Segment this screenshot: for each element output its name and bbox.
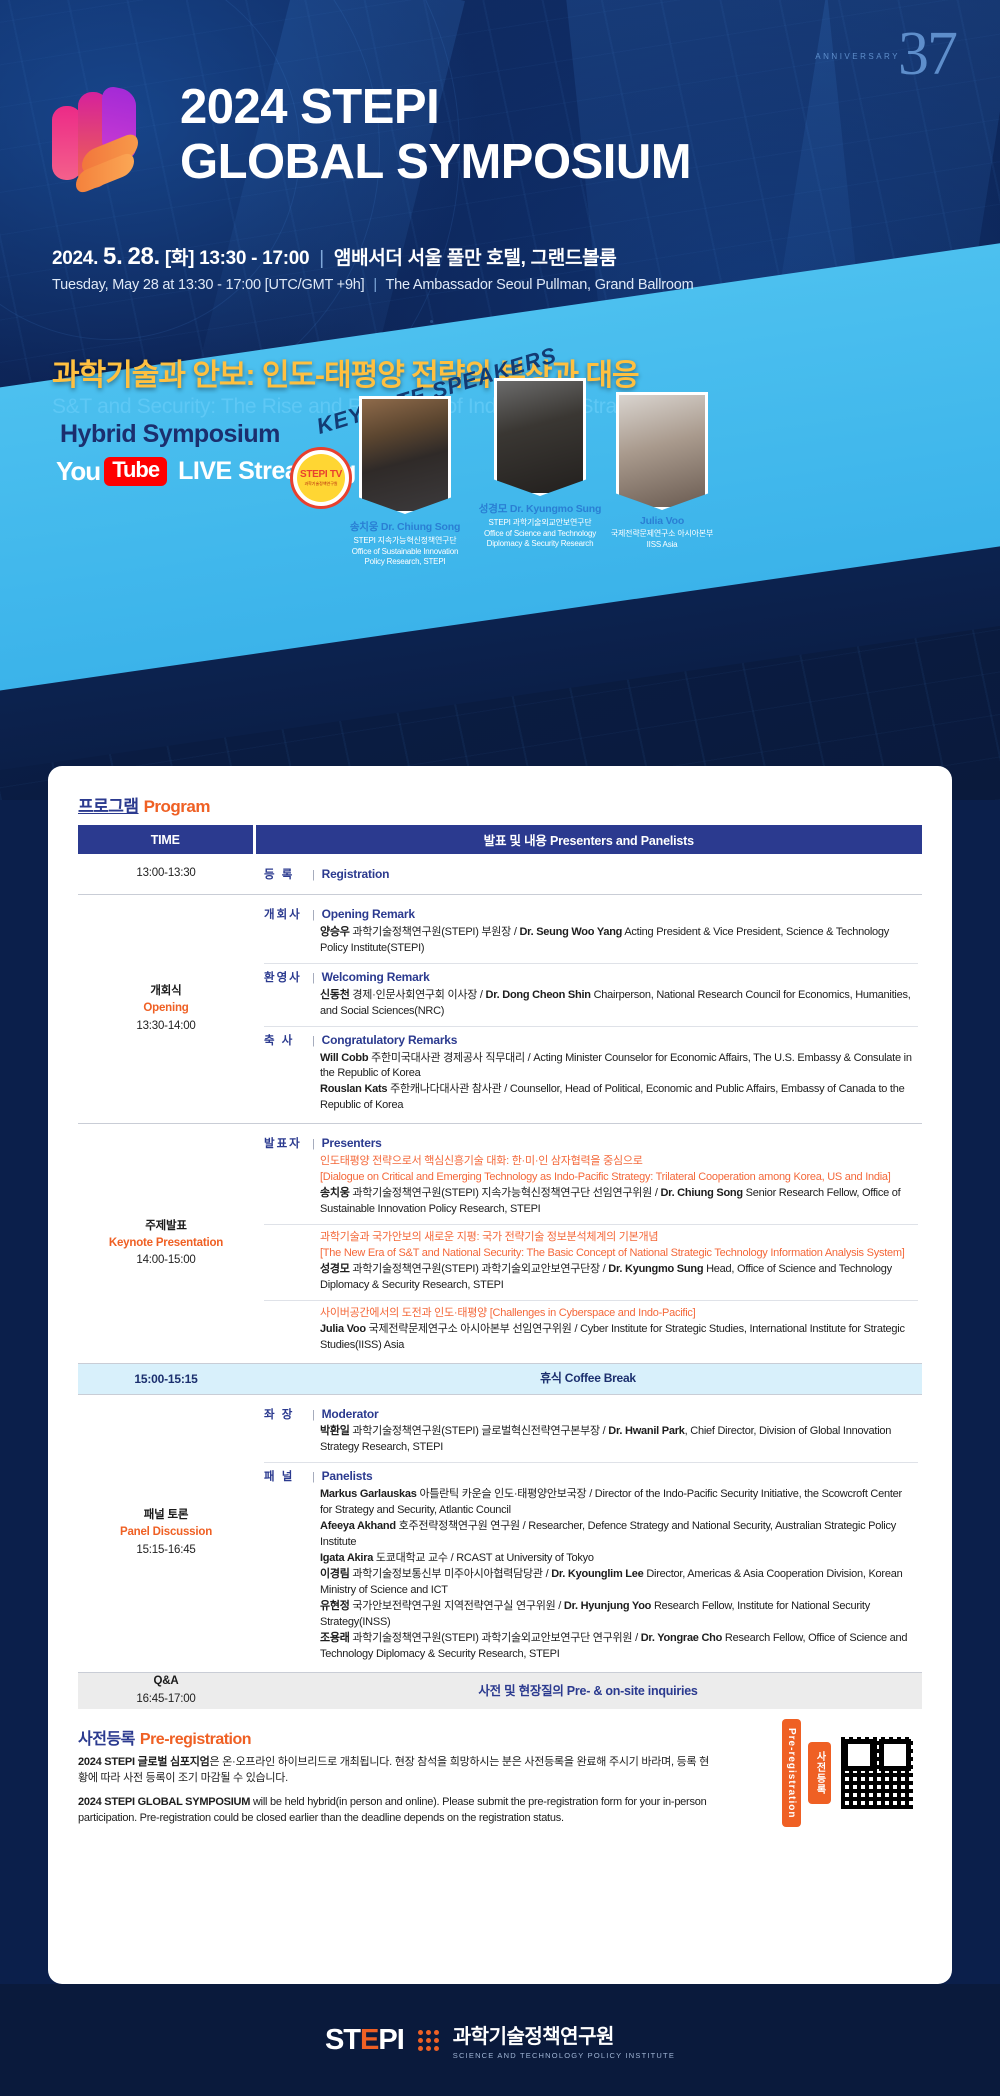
program-block: 과학기술과 국가안보의 새로운 지평: 국가 전략기술 정보분석체계의 기본개념…: [264, 1225, 918, 1301]
coffee-break-label: 휴식 Coffee Break: [254, 1363, 922, 1394]
person-line: 유현정 국가안보전략연구원 지역전략연구실 연구위원 / Dr. Hyunjun…: [264, 1599, 914, 1631]
footer-name-kr: 과학기술정책연구원: [453, 2020, 675, 2049]
date-en: Tuesday, May 28 at 13:30 - 17:00 [UTC/GM…: [52, 277, 365, 293]
row-time-cell: 15:00-15:15: [78, 1363, 254, 1394]
date-year: 2024.: [52, 248, 98, 269]
venue-kr: 앰배서더 서울 풀만 호텔, 그랜드볼룸: [334, 248, 617, 269]
row-content-cell: 좌 장|Moderator박환일 과학기술정책연구원(STEPI) 글로벌혁신전…: [254, 1394, 922, 1672]
program-block: 축 사|Congratulatory RemarksWill Cobb 주한미국…: [264, 1027, 918, 1117]
time-range: 16:45-17:00: [136, 1693, 195, 1705]
date-rest: [화] 13:30 - 17:00: [165, 248, 309, 269]
program-block: 좌 장|Moderator박환일 과학기술정책연구원(STEPI) 글로벌혁신전…: [264, 1401, 918, 1464]
block-header: 개회사|Opening Remark: [264, 906, 914, 924]
speaker-photo-2: [494, 378, 586, 496]
presentation-title-en: [The New Era of S&T and National Securit…: [264, 1246, 914, 1262]
footer-stepi-logo: STEPI: [325, 2024, 404, 2057]
person-line: Afeeya Akhand 호주전략정책연구원 연구원 / Researcher…: [264, 1519, 914, 1551]
footer-institute-name: 과학기술정책연구원 SCIENCE AND TECHNOLOGY POLICY …: [453, 2020, 675, 2060]
table-header-row: TIME 발표 및 내용 Presenters and Panelists: [78, 825, 922, 854]
block-label-en: Moderator: [322, 1406, 379, 1423]
block-header: 좌 장|Moderator: [264, 1406, 914, 1424]
person-line: 조용래 과학기술정책연구원(STEPI) 과학기술외교안보연구단 연구위원 / …: [264, 1631, 914, 1663]
block-label-kr: 환영사: [264, 970, 310, 987]
table-row: 개회식Opening13:30-14:00개회사|Opening Remark양…: [78, 894, 922, 1123]
speaker-name-1: 송치웅 Dr. Chiung Song: [330, 519, 480, 534]
time-range: 13:30-14:00: [136, 1020, 195, 1032]
youtube-you-text: You: [56, 456, 100, 487]
time-range: 14:00-15:00: [136, 1254, 195, 1266]
time-range: 15:00-15:15: [134, 1372, 197, 1386]
block-label-kr: 발표자: [264, 1136, 310, 1153]
presentation-title-kr: 인도태평양 전략으로서 핵심신흥기술 대화: 한·미·인 삼자협력을 중심으로: [264, 1154, 914, 1170]
block-header: 패 널|Panelists: [264, 1468, 914, 1486]
presentation-title-kr: 과학기술과 국가안보의 새로운 지평: 국가 전략기술 정보분석체계의 기본개념: [264, 1230, 914, 1246]
time-label-kr: 패널 토론: [78, 1507, 254, 1524]
person-line: Markus Garlauskas 아틀란틱 카운슬 인도·태평양안보국장 / …: [264, 1487, 914, 1519]
program-card: 프로그램Program TIME 발표 및 내용 Presenters and …: [48, 766, 952, 1984]
date-day: 28.: [127, 243, 159, 270]
program-section-title: 프로그램Program: [78, 792, 922, 817]
block-label-en: Opening Remark: [322, 906, 415, 923]
venue-en: The Ambassador Seoul Pullman, Grand Ball…: [386, 277, 694, 293]
speaker-affiliation-3: 국제전략문제연구소 아시아본부IISS Asia: [592, 529, 732, 550]
title-line-2: GLOBAL SYMPOSIUM: [180, 135, 691, 190]
time-label-en: Panel Discussion: [78, 1524, 254, 1541]
prereg-paragraph-kr: 2024 STEPI 글로벌 심포지엄은 온·오프라인 하이브리드로 개최됩니다…: [78, 1754, 718, 1787]
table-row: 13:00-13:30등 록|Registration: [78, 854, 922, 894]
time-label-en: Opening: [78, 1000, 254, 1017]
person-line: Julia Voo 국제전략문제연구소 아시아본부 선임연구위원 / Cyber…: [264, 1322, 914, 1354]
table-row: 패널 토론Panel Discussion15:15-16:45좌 장|Mode…: [78, 1394, 922, 1672]
block-header: 발표자|Presenters: [264, 1135, 914, 1153]
qr-code-icon[interactable]: [838, 1734, 916, 1812]
footer-dots-icon: [418, 2030, 439, 2051]
block-header: 등 록|Registration: [264, 866, 914, 884]
footer-logo-st: ST: [325, 2024, 360, 2056]
block-label-en: Panelists: [322, 1468, 373, 1485]
prereg-title-en: Pre-registration: [140, 1731, 251, 1748]
column-header-time: TIME: [78, 825, 254, 854]
anniversary-mark: ANNIVERSARY 37: [898, 28, 956, 81]
speaker-card-3: Julia Voo 국제전략문제연구소 아시아본부IISS Asia: [592, 392, 732, 550]
qr-label-tab: Pre-registration: [782, 1719, 801, 1827]
qr-label-en: Pre-registration: [786, 1728, 797, 1818]
program-title-en: Program: [144, 797, 210, 816]
qr-label-tab-kr: 사전등록: [808, 1742, 831, 1804]
program-block: 등 록|Registration: [264, 861, 918, 887]
table-row: Q&A16:45-17:00사전 및 현장질의 Pre- & on-site i…: [78, 1672, 922, 1709]
row-time-cell: Q&A16:45-17:00: [78, 1672, 254, 1709]
block-label-en: Welcoming Remark: [322, 969, 430, 986]
row-content-cell: 등 록|Registration: [254, 854, 922, 894]
person-line: 박환일 과학기술정책연구원(STEPI) 글로벌혁신전략연구본부장 / Dr. …: [264, 1424, 914, 1456]
block-header: 환영사|Welcoming Remark: [264, 969, 914, 987]
hero-banner: ANNIVERSARY 37 2024 STEPI GLOBAL SYMPOSI…: [0, 0, 1000, 800]
row-time-cell: 주제발표Keynote Presentation14:00-15:00: [78, 1124, 254, 1363]
footer-logo-pi: PI: [378, 2024, 403, 2056]
footer-logo-e: E: [360, 2024, 378, 2056]
column-header-content: 발표 및 내용 Presenters and Panelists: [254, 825, 922, 854]
table-row: 15:00-15:15휴식 Coffee Break: [78, 1363, 922, 1394]
youtube-tube-badge: Tube: [104, 457, 167, 485]
speaker-photo-3: [616, 392, 708, 510]
time-range: 15:15-16:45: [136, 1544, 195, 1556]
person-line: 신동천 경제·인문사회연구회 이사장 / Dr. Dong Cheon Shin…: [264, 988, 914, 1020]
block-label-kr: 개회사: [264, 907, 310, 924]
program-title-kr: 프로그램: [78, 797, 139, 816]
person-line: 양승우 과학기술정책연구원(STEPI) 부원장 / Dr. Seung Woo…: [264, 925, 914, 957]
footer-bar: STEPI 과학기술정책연구원 SCIENCE AND TECHNOLOGY P…: [0, 1984, 1000, 2096]
time-label-en: Keynote Presentation: [78, 1235, 254, 1252]
time-range: 13:00-13:30: [136, 867, 195, 879]
speaker-photo-1: [359, 396, 451, 514]
block-label-en: Presenters: [322, 1135, 382, 1152]
time-label-kr: Q&A: [78, 1673, 254, 1690]
qa-label: 사전 및 현장질의 Pre- & on-site inquiries: [254, 1672, 922, 1709]
page-title: 2024 STEPI GLOBAL SYMPOSIUM: [180, 80, 691, 191]
table-row: 주제발표Keynote Presentation14:00-15:00발표자|P…: [78, 1124, 922, 1363]
row-content-cell: 개회사|Opening Remark양승우 과학기술정책연구원(STEPI) 부…: [254, 894, 922, 1123]
footer-name-en: SCIENCE AND TECHNOLOGY POLICY INSTITUTE: [453, 2051, 675, 2060]
speaker-card-1: 송치웅 Dr. Chiung Song STEPI 지속가능혁신정책연구단Off…: [330, 396, 480, 568]
anniversary-number: 37: [898, 28, 956, 81]
prereg-title-kr: 사전등록: [78, 1731, 135, 1748]
pre-registration-section: 사전등록Pre-registration 2024 STEPI 글로벌 심포지엄…: [78, 1725, 922, 1827]
person-line: Rouslan Kats 주한캐나다대사관 참사관 / Counsellor, …: [264, 1082, 914, 1114]
time-label-kr: 주제발표: [78, 1218, 254, 1235]
affiliation-line: 국제전략문제연구소 아시아본부: [592, 529, 732, 540]
block-label-kr: 등 록: [264, 867, 310, 884]
person-line: Igata Akira 도쿄대학교 교수 / RCAST at Universi…: [264, 1551, 914, 1567]
affiliation-line: Office of Sustainable Innovation: [330, 547, 480, 558]
speaker-name-3: Julia Voo: [592, 515, 732, 527]
affiliation-line: STEPI 지속가능혁신정책연구단: [330, 536, 480, 547]
row-time-cell: 패널 토론Panel Discussion15:15-16:45: [78, 1394, 254, 1672]
block-header: 축 사|Congratulatory Remarks: [264, 1032, 914, 1050]
presentation-title-en: [Dialogue on Critical and Emerging Techn…: [264, 1170, 914, 1186]
date-month: 5.: [103, 243, 122, 270]
row-time-cell: 개회식Opening13:30-14:00: [78, 894, 254, 1123]
block-label-en: Registration: [322, 866, 390, 883]
affiliation-line: Policy Research, STEPI: [330, 557, 480, 568]
anniversary-label: ANNIVERSARY: [815, 52, 900, 61]
row-time-cell: 13:00-13:30: [78, 854, 254, 894]
block-label-en: Congratulatory Remarks: [322, 1032, 458, 1049]
block-label-kr: 축 사: [264, 1033, 310, 1050]
block-label-kr: 좌 장: [264, 1407, 310, 1424]
program-table: TIME 발표 및 내용 Presenters and Panelists 13…: [78, 825, 922, 1709]
presentation-title-mixed: 사이버공간에서의 도전과 인도·태평양 [Challenges in Cyber…: [264, 1306, 914, 1322]
person-line: 송치웅 과학기술정책연구원(STEPI) 지속가능혁신정책연구단 선임연구위원 …: [264, 1186, 914, 1218]
stepi-logo-icon: [52, 88, 148, 200]
program-block: 패 널|PanelistsMarkus Garlauskas 아틀란틱 카운슬 …: [264, 1463, 918, 1664]
prereg-kr-bold: 2024 STEPI 글로벌 심포지엄: [78, 1756, 210, 1768]
row-content-cell: 발표자|Presenters인도태평양 전략으로서 핵심신흥기술 대화: 한·미…: [254, 1124, 922, 1363]
qr-code-block[interactable]: Pre-registration 사전등록: [782, 1719, 916, 1827]
person-line: 성경모 과학기술정책연구원(STEPI) 과학기술외교안보연구단장 / Dr. …: [264, 1262, 914, 1294]
program-block: 환영사|Welcoming Remark신동천 경제·인문사회연구회 이사장 /…: [264, 964, 918, 1027]
program-block: 사이버공간에서의 도전과 인도·태평양 [Challenges in Cyber…: [264, 1301, 918, 1356]
event-datetime-kr: 2024. 5. 28. [화] 13:30 - 17:00 | 앰배서더 서울…: [52, 243, 617, 271]
affiliation-line: IISS Asia: [592, 540, 732, 551]
prereg-paragraph-en: 2024 STEPI GLOBAL SYMPOSIUM will be held…: [78, 1794, 718, 1827]
speaker-affiliation-1: STEPI 지속가능혁신정책연구단Office of Sustainable I…: [330, 536, 480, 568]
prereg-en-bold: 2024 STEPI GLOBAL SYMPOSIUM: [78, 1796, 250, 1808]
program-block: 개회사|Opening Remark양승우 과학기술정책연구원(STEPI) 부…: [264, 901, 918, 964]
qr-label-kr: 사전등록: [814, 1751, 825, 1795]
block-label-kr: 패 널: [264, 1469, 310, 1486]
person-line: Will Cobb 주한미국대사관 경제공사 직무대리 / Acting Min…: [264, 1051, 914, 1083]
person-line: 이경림 과학기술정보통신부 미주아시아협력담당관 / Dr. Kyounglim…: [264, 1567, 914, 1599]
title-line-1: 2024 STEPI: [180, 80, 691, 135]
time-label-kr: 개회식: [78, 983, 254, 1000]
program-block: 발표자|Presenters인도태평양 전략으로서 핵심신흥기술 대화: 한·미…: [264, 1130, 918, 1225]
program-table-body: 13:00-13:30등 록|Registration개회식Opening13:…: [78, 854, 922, 1709]
hybrid-symposium-label: Hybrid Symposium: [60, 420, 280, 449]
event-datetime-en: Tuesday, May 28 at 13:30 - 17:00 [UTC/GM…: [52, 277, 693, 293]
